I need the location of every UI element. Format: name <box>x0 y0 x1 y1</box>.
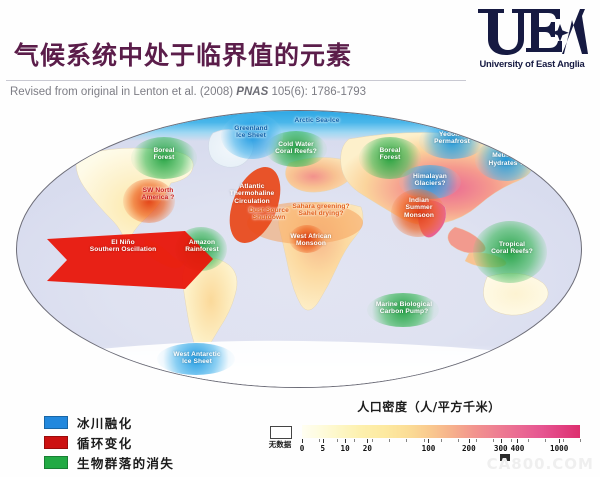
map-label-cold-water-coral-reefs: Cold Water Coral Reefs? <box>259 141 333 156</box>
population-tick-mark <box>559 439 560 443</box>
population-minor-tick <box>511 439 512 442</box>
population-minor-tick <box>563 439 564 442</box>
population-tick-label: 200 <box>462 444 476 453</box>
population-tick-label: 300 <box>494 444 508 453</box>
nodata-swatch <box>270 426 292 439</box>
population-tick-label: 10 <box>341 444 350 453</box>
uea-logo: University of East Anglia <box>470 6 594 76</box>
map-label-el-nino-southern-oscillation: El Niño Southern Oscillation <box>73 239 173 254</box>
population-density-legend: 人口密度（人/平方千米） 无数据 0510201002003004001000 <box>268 398 584 415</box>
population-tick-label: 0 <box>300 444 305 453</box>
population-minor-tick <box>493 439 494 442</box>
map-label-atlantic-thermohaline-circulation: Atlantic Thermohaline Circulation <box>215 183 289 205</box>
population-minor-tick <box>372 439 373 442</box>
population-tick-mark <box>501 439 502 443</box>
population-minor-tick <box>337 439 338 442</box>
population-minor-tick <box>424 439 425 442</box>
population-tick-mark <box>428 439 429 443</box>
map-globe: Arctic Sea-Ice Greenland Ice Sheet Cold … <box>16 110 582 388</box>
citation-prefix: Revised from original in Lenton et al. (… <box>10 86 236 98</box>
legend-item-glacier-melt: 冰川融化 <box>44 412 174 432</box>
map-label-sahara-greening-sahel-drying: Sahara greening? Sahel drying? <box>273 203 369 218</box>
population-tick-label: 400 <box>511 444 525 453</box>
population-minor-tick <box>302 439 303 442</box>
population-density-title: 人口密度（人/平方千米） <box>304 398 554 415</box>
map-label-amazon-rainforest: Amazon Rainforest <box>173 239 231 254</box>
page-title: 气候系统中处于临界值的元素 <box>14 36 352 72</box>
map-label-marine-biological-carbon-pump: Marine Biological Carbon Pump? <box>365 301 443 316</box>
blob-el-nino-southern-oscillation <box>45 225 231 295</box>
source-citation: Revised from original in Lenton et al. (… <box>10 86 366 98</box>
citation-suffix: 105(6): 1786-1793 <box>268 86 366 98</box>
population-tick-label: 20 <box>363 444 372 453</box>
population-color-ramp <box>302 425 580 438</box>
uea-monogram-icon <box>476 6 588 56</box>
land-antarctica <box>37 341 567 388</box>
population-tick-mark <box>367 439 368 443</box>
population-minor-tick <box>389 439 390 442</box>
map-label-greenland-ice-sheet: Greenland Ice Sheet <box>217 125 285 140</box>
population-tick-label: 1000 <box>550 444 568 453</box>
legend-label-biome-loss: 生物群落的消失 <box>77 453 174 472</box>
legend-swatch-green <box>44 456 68 469</box>
site-watermark: CA800.COM <box>487 455 594 473</box>
population-minor-tick <box>476 439 477 442</box>
slide-header: 气候系统中处于临界值的元素 Revised from original in L… <box>0 0 600 108</box>
population-minor-tick <box>354 439 355 442</box>
map-label-indian-summer-monsoon: Indian Summer Monsoon <box>395 197 443 219</box>
title-divider <box>6 80 466 81</box>
population-tick-mark <box>517 439 518 443</box>
population-tick-label: 5 <box>321 444 326 453</box>
slide-root: 气候系统中处于临界值的元素 Revised from original in L… <box>0 0 600 477</box>
map-label-west-antarctic-ice-sheet: West Antarctic Ice Sheet <box>161 351 233 366</box>
legend-label-circulation-change: 循环变化 <box>77 433 133 452</box>
map-label-himalayan-glaciers: Himalayan Glaciers? <box>401 173 459 188</box>
map-label-boreal-forest-east: Boreal Forest <box>365 147 415 162</box>
map-label-arctic-sea-ice: Arctic Sea-Ice <box>281 117 353 124</box>
legend-swatch-blue <box>44 416 68 429</box>
population-minor-tick <box>319 439 320 442</box>
map-label-boreal-forest-west: Boreal Forest <box>139 147 189 162</box>
population-tick-mark <box>345 439 346 443</box>
population-minor-tick <box>580 439 581 442</box>
population-minor-tick <box>545 439 546 442</box>
population-minor-tick <box>441 439 442 442</box>
category-legend: 冰川融化 循环变化 生物群落的消失 <box>44 412 174 472</box>
population-minor-tick <box>406 439 407 442</box>
population-tick-label: 100 <box>422 444 436 453</box>
legend-item-circulation-change: 循环变化 <box>44 432 174 452</box>
nodata-label: 无数据 <box>265 439 295 450</box>
legend-label-glacier-melt: 冰川融化 <box>77 413 133 432</box>
map-label-ocean-methane-hydrates: Ocean Methane Hydrates ? <box>479 145 533 167</box>
population-minor-tick <box>528 439 529 442</box>
population-minor-tick <box>458 439 459 442</box>
citation-journal: PNAS <box>236 86 268 98</box>
legend-item-biome-loss: 生物群落的消失 <box>44 452 174 472</box>
map-label-yedoma-permafrost: Yedoma Permafrost <box>423 131 481 146</box>
world-map: Arctic Sea-Ice Greenland Ice Sheet Cold … <box>8 108 592 393</box>
legend-swatch-red <box>44 436 68 449</box>
map-label-tropical-coral-reefs: Tropical Coral Reefs? <box>481 241 543 256</box>
population-tick-mark <box>323 439 324 443</box>
population-tick-mark <box>469 439 470 443</box>
uea-wordmark: University of East Anglia <box>470 58 594 69</box>
map-label-sw-north-america: SW North America ? <box>127 187 189 202</box>
map-label-west-african-monsoon: West African Monsoon <box>279 233 343 248</box>
